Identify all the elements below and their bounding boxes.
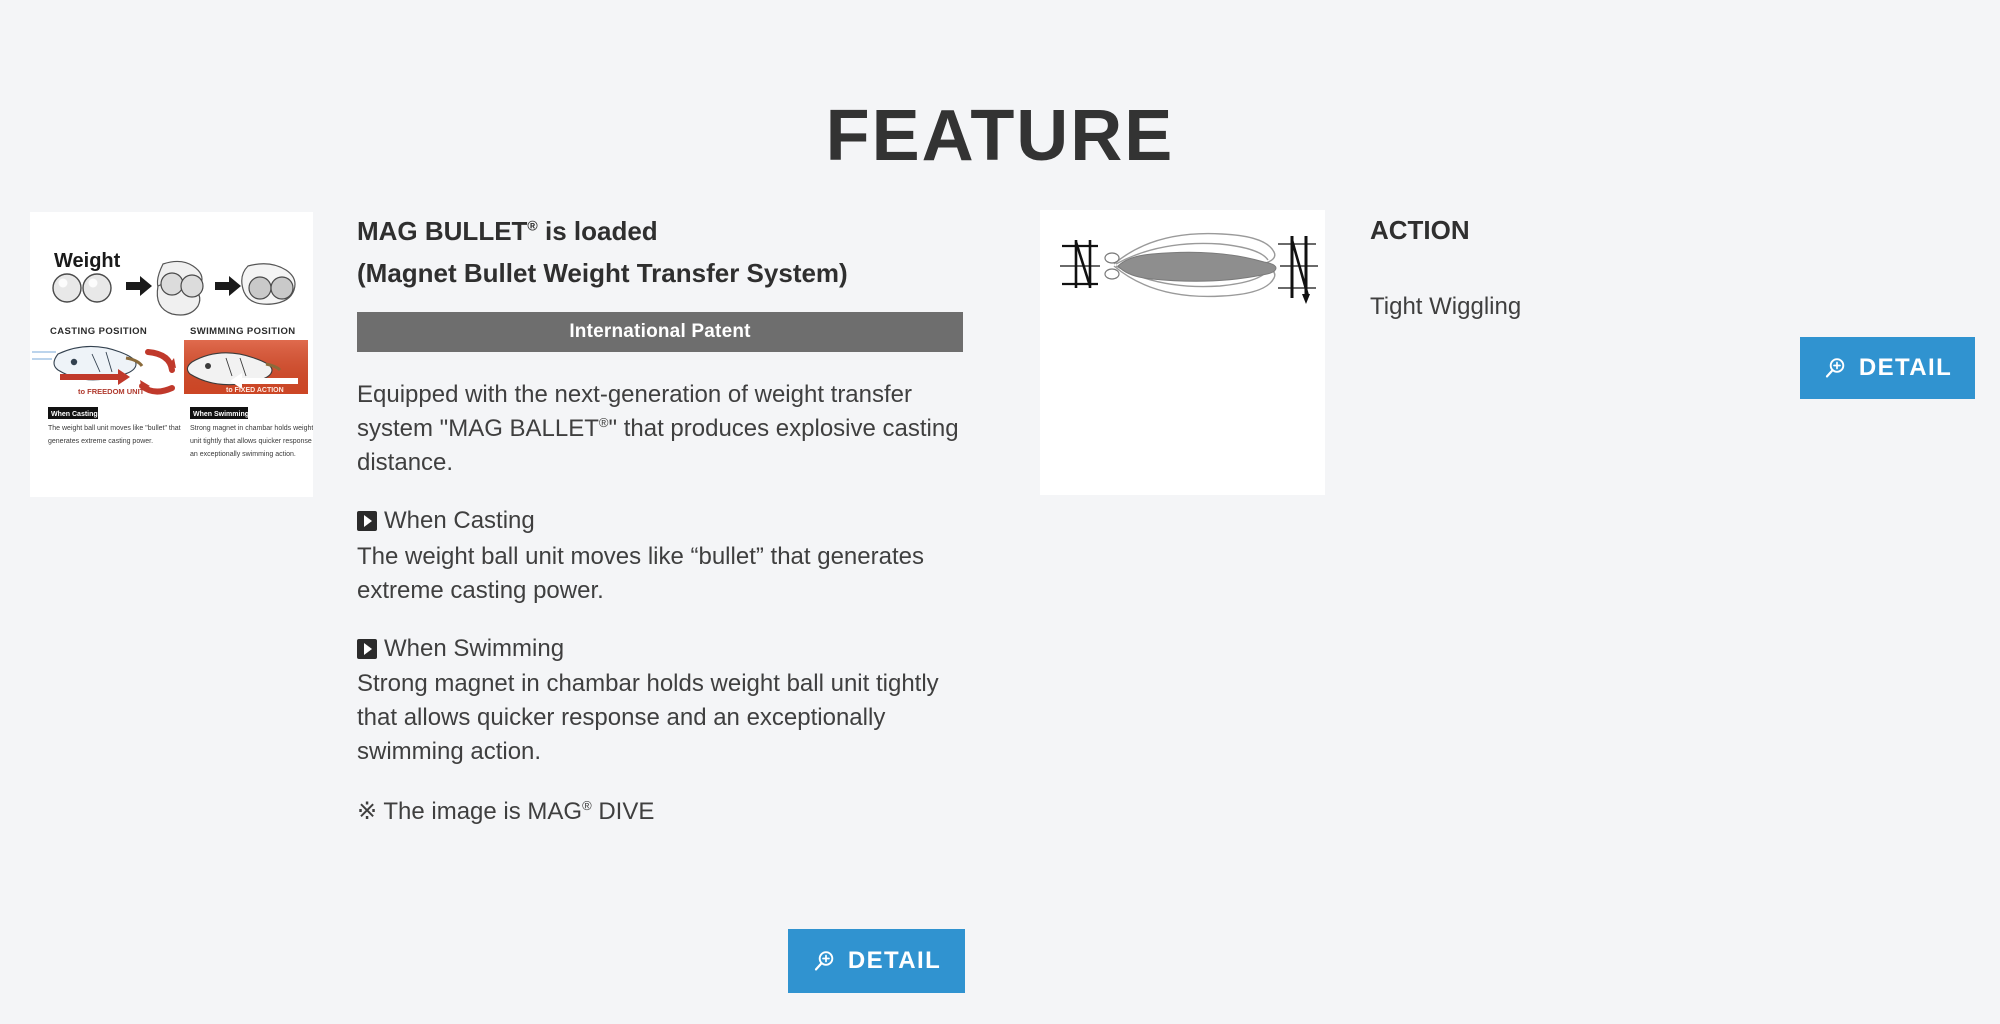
svg-text:When Casting: When Casting	[51, 411, 98, 418]
status-badge: International Patent	[357, 312, 963, 352]
feature-description: Equipped with the next-generation of wei…	[357, 378, 967, 480]
registered-mark: ®	[599, 415, 609, 430]
when-casting-text: The weight ball unit moves like “bullet”…	[357, 540, 967, 608]
detail-button-feature[interactable]: DETAIL	[788, 929, 965, 993]
when-casting-label: When Casting	[384, 504, 535, 538]
svg-text:generates extreme casting powe: generates extreme casting power.	[48, 438, 153, 445]
play-triangle-icon	[357, 639, 377, 659]
detail-button-label: DETAIL	[848, 947, 941, 975]
action-diagram-image	[1040, 210, 1325, 495]
svg-text:CASTING POSITION: CASTING POSITION	[50, 326, 147, 337]
when-casting-heading: When Casting	[357, 504, 967, 538]
feature-columns: Weight	[0, 210, 2000, 1020]
detail-button-action[interactable]: DETAIL	[1800, 337, 1975, 399]
registered-mark: ®	[582, 798, 592, 813]
svg-text:When Swimming: When Swimming	[193, 411, 249, 418]
headline-mag-bullet: MAG BULLET	[357, 216, 527, 246]
magnifier-plus-icon	[1823, 356, 1847, 380]
svg-text:The weight ball unit moves lik: The weight ball unit moves like "bullet"…	[48, 425, 181, 432]
play-triangle-icon	[357, 511, 377, 531]
registered-mark: ®	[527, 217, 537, 233]
feature-text-column: MAG BULLET® is loaded (Magnet Bullet Wei…	[357, 210, 967, 829]
patent-badge-label: International Patent	[569, 321, 750, 343]
headline-is-loaded: is loaded	[538, 216, 658, 246]
svg-text:to FIXED ACTION: to FIXED ACTION	[226, 387, 284, 394]
when-casting-block: When Casting The weight ball unit moves …	[357, 504, 967, 607]
action-description: Tight Wiggling	[1370, 290, 1790, 324]
feature-headline-line2: (Magnet Bullet Weight Transfer System)	[357, 252, 967, 294]
when-swimming-text: Strong magnet in chambar holds weight ba…	[357, 667, 967, 769]
when-swimming-label: When Swimming	[384, 632, 564, 666]
when-swimming-heading: When Swimming	[357, 632, 967, 666]
svg-text:Weight: Weight	[54, 250, 121, 272]
image-note: ※ The image is MAG® DIVE	[357, 795, 967, 829]
svg-text:unit tightly that allows quick: unit tightly that allows quicker respons…	[190, 438, 313, 445]
svg-text:to FREEDOM UNIT: to FREEDOM UNIT	[78, 387, 145, 396]
when-swimming-block: When Swimming Strong magnet in chambar h…	[357, 632, 967, 769]
page-title: FEATURE	[0, 100, 2000, 172]
note-post: DIVE	[592, 798, 655, 825]
action-title: ACTION	[1370, 210, 1790, 252]
magnifier-plus-icon	[812, 949, 836, 973]
action-column: ACTION Tight Wiggling	[1370, 210, 1790, 323]
svg-text:an exceptionally swimming acti: an exceptionally swimming action.	[190, 451, 296, 458]
note-pre: ※ The image is MAG	[357, 798, 582, 825]
svg-text:SWIMMING POSITION: SWIMMING POSITION	[190, 326, 296, 337]
mag-bullet-diagram-image: Weight	[30, 212, 313, 497]
feature-headline-line1: MAG BULLET® is loaded	[357, 210, 967, 252]
feature-headline: MAG BULLET® is loaded (Magnet Bullet Wei…	[357, 210, 967, 294]
feature-page: FEATURE Weight	[0, 0, 2000, 1024]
detail-button-label: DETAIL	[1859, 354, 1952, 382]
svg-text:Strong magnet in chambar holds: Strong magnet in chambar holds weight ba…	[190, 425, 313, 432]
